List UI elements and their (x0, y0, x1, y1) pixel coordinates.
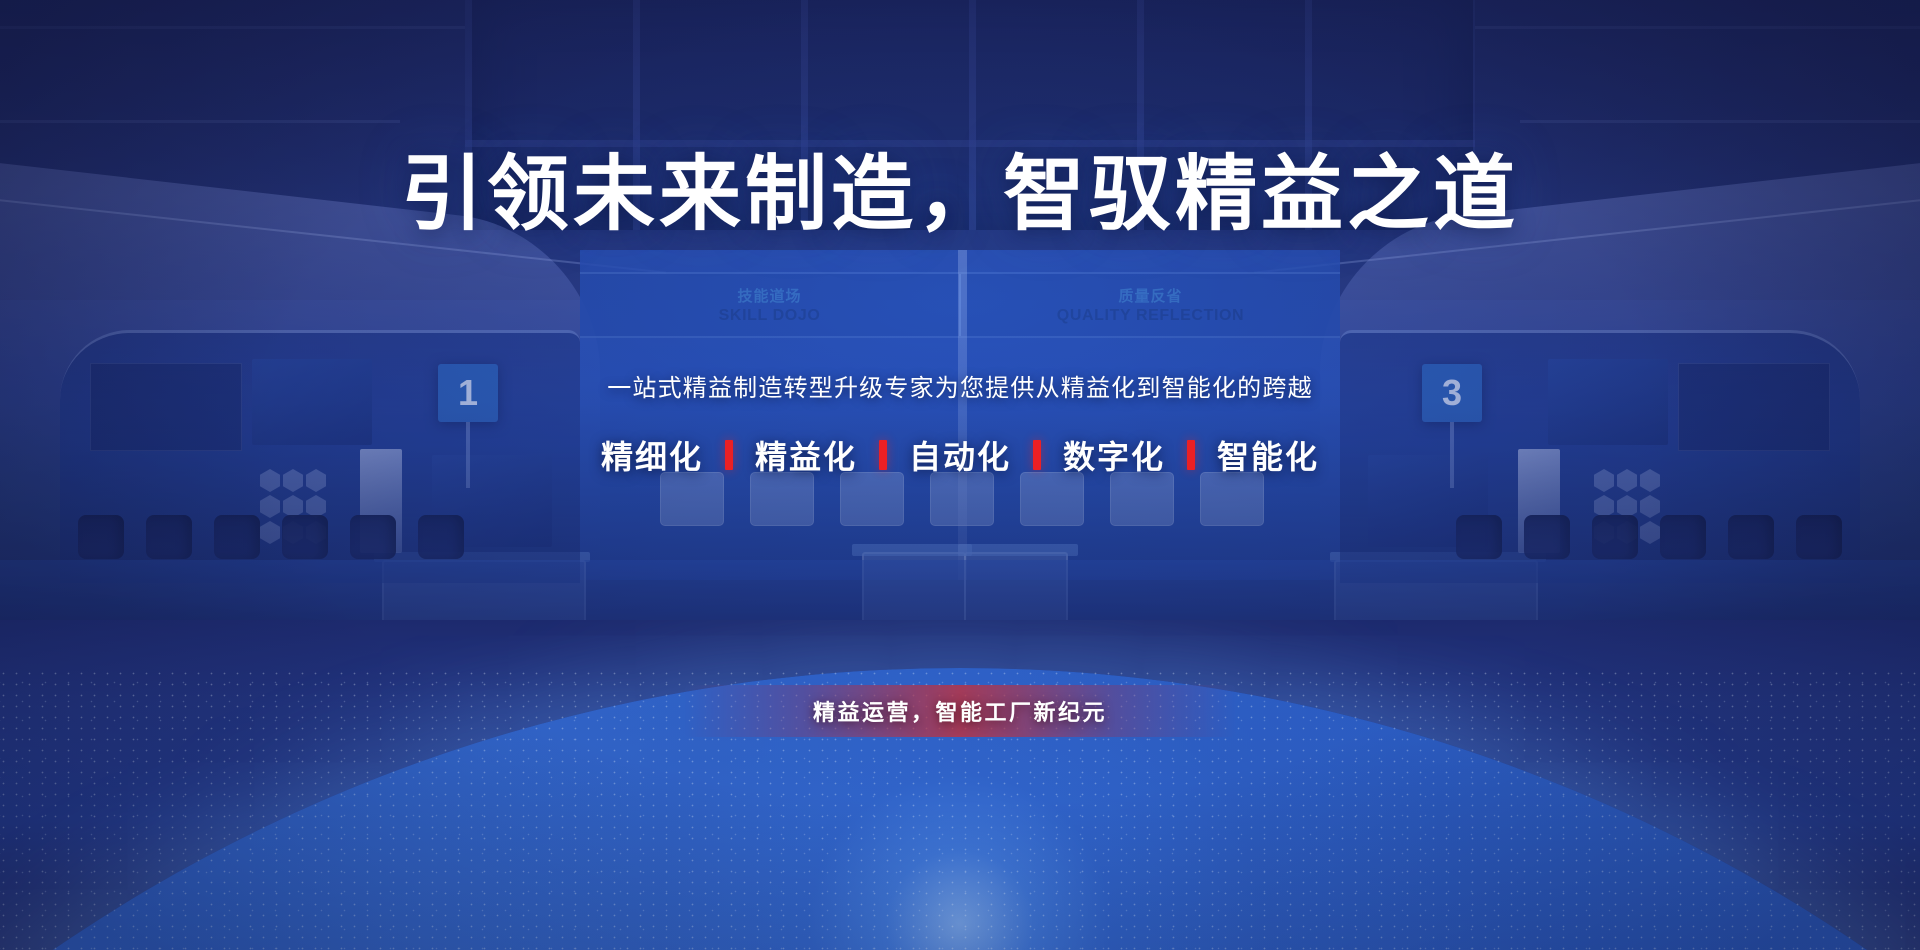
keyword-item: 精细化 (601, 432, 703, 478)
banner-stage: 技能道场 SKILL DOJO 质量反省 QUALITY REFLECTION (0, 0, 1920, 950)
page-title: 引领未来制造，智驭精益之道 (0, 152, 1920, 239)
tagline-banner: 精益运营，智能工厂新纪元 (685, 685, 1235, 737)
keyword-item: 精益化 (755, 432, 857, 478)
keyword-separator-icon (1187, 440, 1195, 470)
keyword-item: 数字化 (1063, 432, 1165, 478)
keyword-list: 精细化 精益化 自动化 数字化 智能化 (0, 432, 1920, 478)
banner-subtitle: 一站式精益制造转型升级专家为您提供从精益化到智能化的跨越 (0, 368, 1920, 403)
keyword-separator-icon (879, 440, 887, 470)
space-background (0, 620, 1920, 950)
hall-color-wash (0, 0, 1920, 650)
keyword-item: 智能化 (1217, 432, 1319, 478)
tagline-text: 精益运营，智能工厂新纪元 (813, 695, 1107, 727)
exhibition-hall-background: 技能道场 SKILL DOJO 质量反省 QUALITY REFLECTION (0, 0, 1920, 650)
keyword-item: 自动化 (909, 432, 1011, 478)
keyword-separator-icon (1033, 440, 1041, 470)
keyword-separator-icon (725, 440, 733, 470)
